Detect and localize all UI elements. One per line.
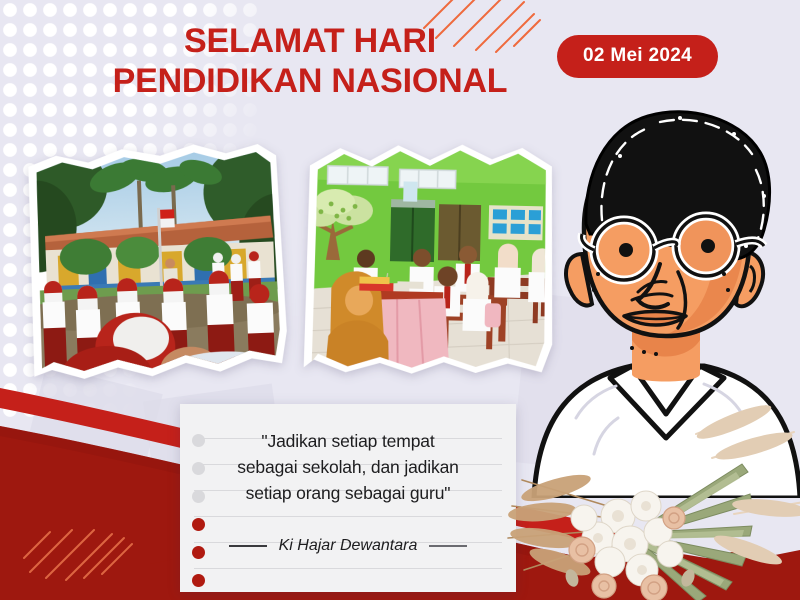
flag-ceremony-photo-image [17,131,294,389]
flag-ceremony-photo [17,131,294,389]
quote-line-1: "Jadikan setiap tempat [192,428,504,454]
page-title: SELAMAT HARI PENDIDIKAN NASIONAL [60,22,560,102]
date-badge: 02 Mei 2024 [557,35,718,78]
rule-line [194,516,502,517]
quote-attribution: Ki Hajar Dewantara [180,537,516,555]
classroom-photo-image [300,139,561,376]
rule-line [194,568,502,569]
attribution-dash-left [229,545,267,547]
quote-line-3: setiap orang sebagai guru" [192,480,504,506]
quote-card-inner: "Jadikan setiap tempat sebagai sekolah, … [180,404,516,592]
dried-floral-bouquet-decor [498,398,800,600]
punch-hole [192,518,205,531]
poster-canvas: SELAMAT HARI PENDIDIKAN NASIONAL 02 Mei … [0,0,800,600]
date-badge-label: 02 Mei 2024 [583,45,692,66]
quote-text: "Jadikan setiap tempat sebagai sekolah, … [192,428,504,506]
quote-author: Ki Hajar Dewantara [279,537,418,555]
classroom-photo [300,139,561,376]
quote-line-2: sebagai sekolah, dan jadikan [192,454,504,480]
title-line-2: PENDIDIKAN NASIONAL [60,62,560,102]
attribution-dash-right [429,545,467,547]
quote-card: "Jadikan setiap tempat sebagai sekolah, … [180,404,516,592]
punch-hole [192,574,205,587]
title-line-1: SELAMAT HARI [184,22,436,60]
